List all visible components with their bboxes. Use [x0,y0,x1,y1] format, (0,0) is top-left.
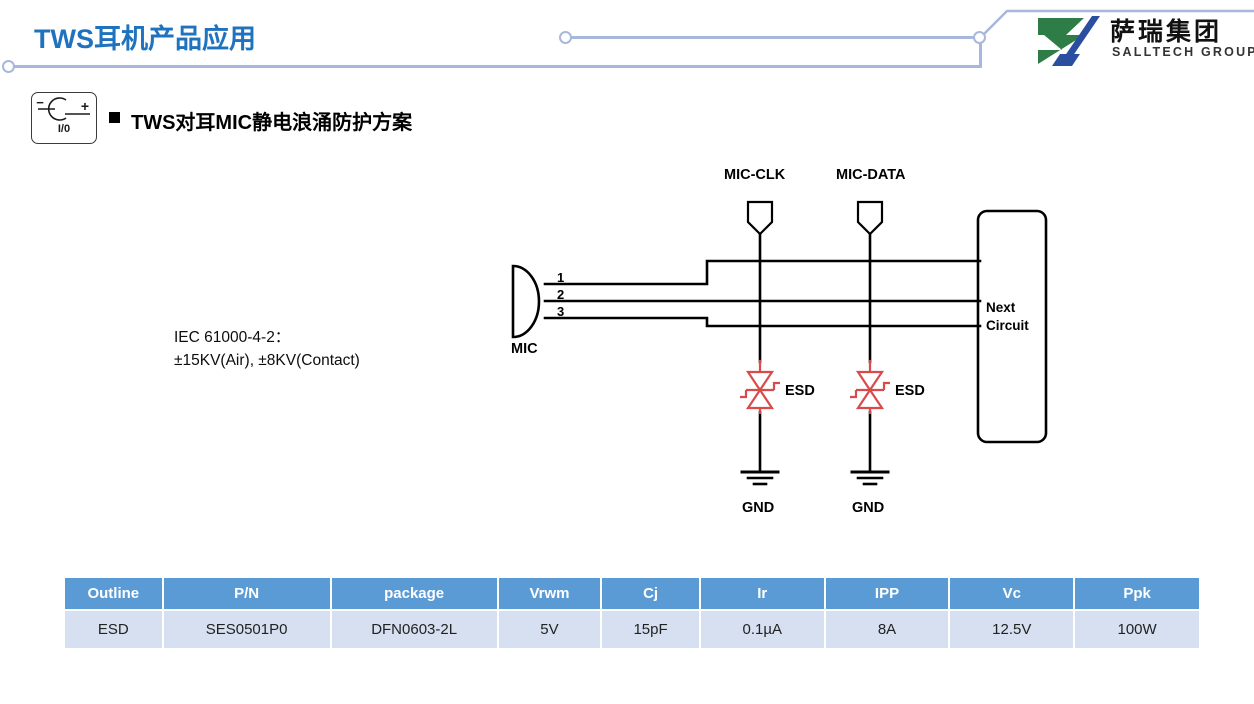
gnd-label-1: GND [742,500,774,516]
esd-diode-2 [850,360,890,414]
col-ipp: IPP [825,578,950,610]
esd-label-2: ESD [895,383,925,399]
table-row: ESD SES0501P0 DFN0603-2L 5V 15pF 0.1µA 8… [65,610,1199,648]
next-circuit-label-line1: Next [986,300,1015,315]
col-outline: Outline [65,578,163,610]
mic-pin-2-label: 2 [557,287,564,302]
slide-canvas: TWS耳机产品应用 萨瑞集团 SALLTECH GROUP − [0,0,1254,704]
circuit-diagram [0,0,1254,560]
gnd-label-2: GND [852,500,884,516]
col-pn: P/N [163,578,331,610]
next-circuit-label-line2: Circuit [986,318,1029,333]
mic-pin-3-label: 3 [557,304,564,319]
terminal-label-mic-data: MIC-DATA [836,167,906,183]
cell-cj: 15pF [601,610,700,648]
cell-pn: SES0501P0 [163,610,331,648]
cell-package: DFN0603-2L [331,610,498,648]
cell-vrwm: 5V [498,610,602,648]
spec-table: Outline P/N package Vrwm Cj Ir IPP Vc Pp… [65,578,1199,648]
cell-outline: ESD [65,610,163,648]
col-vrwm: Vrwm [498,578,602,610]
cell-ir: 0.1µA [700,610,825,648]
esd-diode-1 [740,360,780,414]
esd-label-1: ESD [785,383,815,399]
table-header-row: Outline P/N package Vrwm Cj Ir IPP Vc Pp… [65,578,1199,610]
terminal-label-mic-clk: MIC-CLK [724,167,785,183]
cell-vc: 12.5V [949,610,1074,648]
cell-ipp: 8A [825,610,950,648]
col-ppk: Ppk [1074,578,1199,610]
col-package: package [331,578,498,610]
cell-ppk: 100W [1074,610,1199,648]
mic-pin-1-label: 1 [557,270,564,285]
col-ir: Ir [700,578,825,610]
col-cj: Cj [601,578,700,610]
mic-label: MIC [511,341,538,357]
col-vc: Vc [949,578,1074,610]
